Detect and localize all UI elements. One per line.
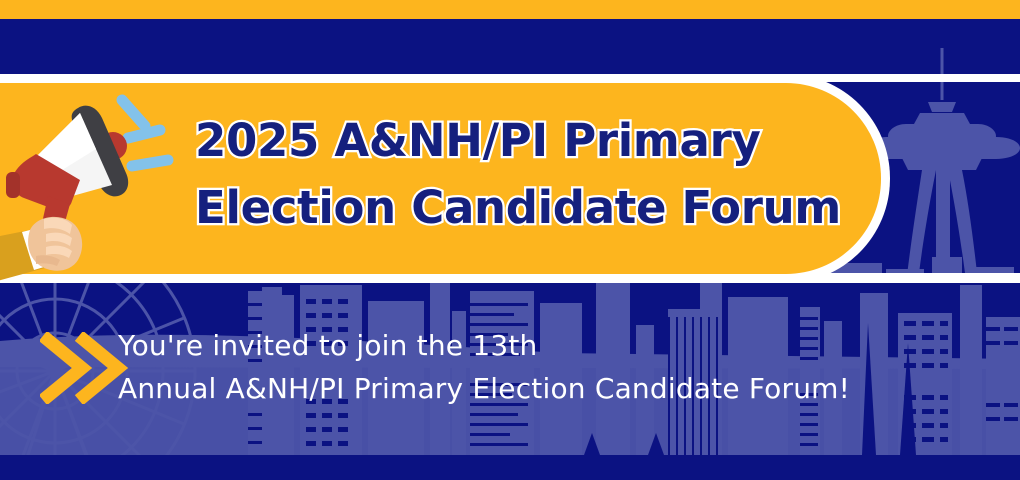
subtitle-line-1: You're invited to join the 13th [118,325,988,368]
megaphone-icon [0,88,190,283]
city-base-strip [0,455,1020,480]
headline-line-2: Election Candidate Forum [195,175,895,242]
page-title: 2025 A&NH/PI Primary Election Candidate … [195,108,895,241]
event-banner: 2025 A&NH/PI Primary Election Candidate … [0,0,1020,480]
top-accent-strip [0,0,1020,19]
headline-line-1: 2025 A&NH/PI Primary [195,108,895,175]
banner-subtitle: You're invited to join the 13th Annual A… [118,325,988,410]
subtitle-line-2: Annual A&NH/PI Primary Election Candidat… [118,368,988,411]
